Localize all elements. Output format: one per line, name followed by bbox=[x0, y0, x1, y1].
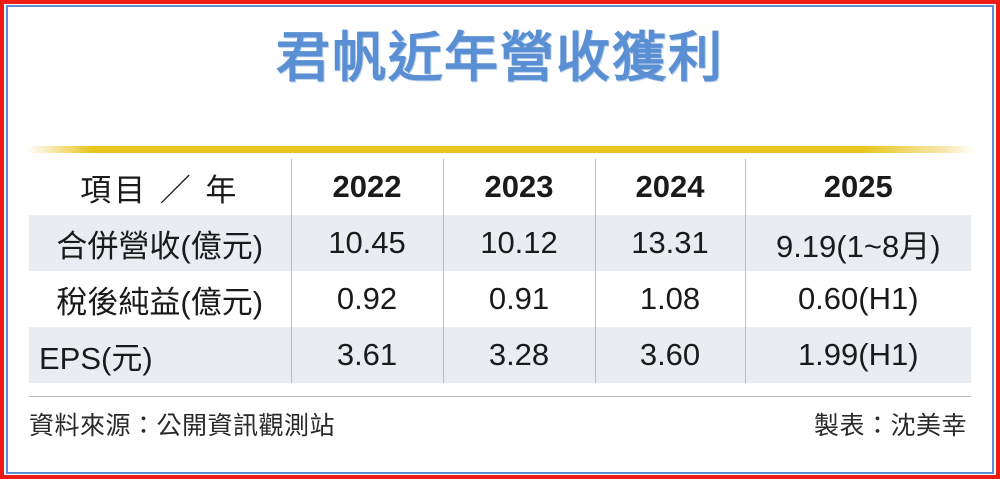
footer: 資料來源：公開資訊觀測站 製表：沈美幸 bbox=[29, 406, 971, 442]
table-header-row: 項目 ／ 年 2022 2023 2024 2025 bbox=[29, 159, 971, 215]
data-table-container: 項目 ／ 年 2022 2023 2024 2025 合併營收(億元) 10.4… bbox=[29, 159, 971, 383]
cell-eps-2023: 3.28 bbox=[443, 327, 595, 383]
cell-revenue-2023: 10.12 bbox=[443, 215, 595, 271]
cell-net-income-2024: 1.08 bbox=[595, 271, 745, 327]
row-label-eps: EPS(元) bbox=[29, 327, 291, 383]
cell-net-income-2023: 0.91 bbox=[443, 271, 595, 327]
table-bottom-divider bbox=[29, 396, 971, 397]
financial-table: 項目 ／ 年 2022 2023 2024 2025 合併營收(億元) 10.4… bbox=[29, 159, 971, 383]
data-source-label: 資料來源：公開資訊觀測站 bbox=[29, 406, 335, 442]
table-row: 合併營收(億元) 10.45 10.12 13.31 9.19(1~8月) bbox=[29, 215, 971, 271]
row-label-net-income: 稅後純益(億元) bbox=[29, 271, 291, 327]
author-label: 製表：沈美幸 bbox=[814, 406, 971, 442]
column-header-2022: 2022 bbox=[291, 159, 443, 215]
cell-revenue-2025: 9.19(1~8月) bbox=[745, 215, 971, 271]
table-body: 合併營收(億元) 10.45 10.12 13.31 9.19(1~8月) 稅後… bbox=[29, 215, 971, 383]
cell-eps-2025: 1.99(H1) bbox=[745, 327, 971, 383]
cell-net-income-2022: 0.92 bbox=[291, 271, 443, 327]
page-title-container: 君帆近年營收獲利 bbox=[9, 28, 991, 87]
row-label-revenue: 合併營收(億元) bbox=[29, 215, 291, 271]
cell-eps-2024: 3.60 bbox=[595, 327, 745, 383]
column-header-2025: 2025 bbox=[745, 159, 971, 215]
title-divider-rule bbox=[26, 146, 974, 153]
cell-revenue-2024: 13.31 bbox=[595, 215, 745, 271]
infographic-page: 君帆近年營收獲利 項目 ／ 年 2022 2023 2024 2025 合併營收… bbox=[0, 0, 1000, 479]
column-header-item: 項目 ／ 年 bbox=[29, 159, 291, 215]
table-row: EPS(元) 3.61 3.28 3.60 1.99(H1) bbox=[29, 327, 971, 383]
table-row: 稅後純益(億元) 0.92 0.91 1.08 0.60(H1) bbox=[29, 271, 971, 327]
cell-net-income-2025: 0.60(H1) bbox=[745, 271, 971, 327]
column-header-2023: 2023 bbox=[443, 159, 595, 215]
table-header: 項目 ／ 年 2022 2023 2024 2025 bbox=[29, 159, 971, 215]
column-header-2024: 2024 bbox=[595, 159, 745, 215]
page-title: 君帆近年營收獲利 bbox=[276, 28, 724, 87]
cell-revenue-2022: 10.45 bbox=[291, 215, 443, 271]
cell-eps-2022: 3.61 bbox=[291, 327, 443, 383]
